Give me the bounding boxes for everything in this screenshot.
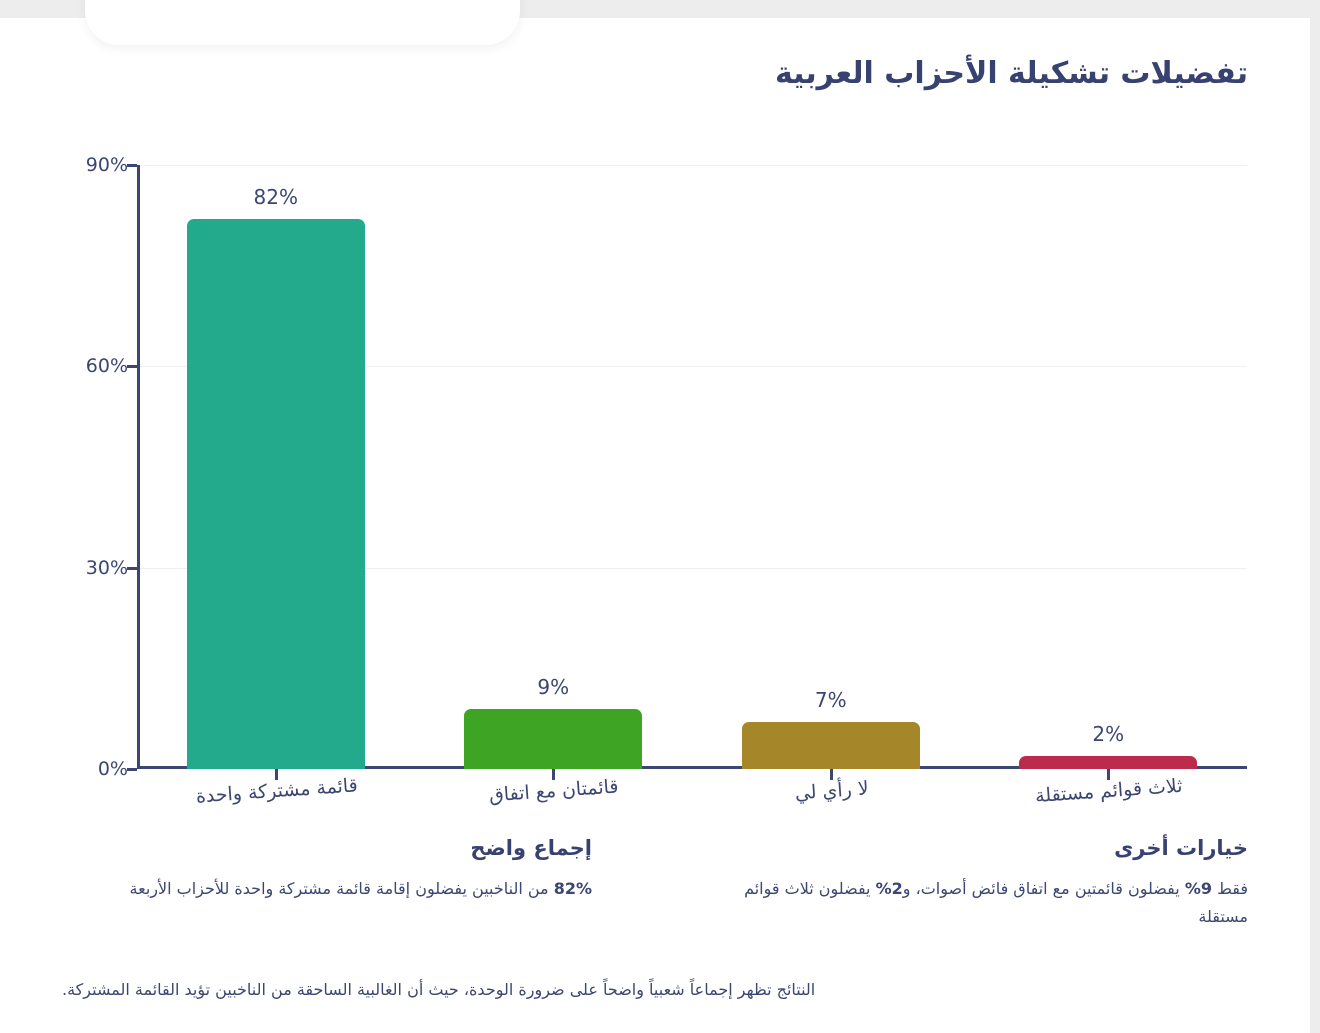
- top-floating-panel: [85, 0, 520, 45]
- y-axis-tick-label: 90%: [38, 154, 128, 176]
- summary-note: النتائج تظهر إجماعاً شعبياً واضحاً على ض…: [62, 976, 1248, 1003]
- bar-group[interactable]: 7%: [742, 165, 920, 769]
- insight-stat-82: 82%: [554, 879, 592, 898]
- chart-card: تفضيلات تشكيلة الأحزاب العربية 0%30%60%9…: [0, 18, 1310, 1033]
- insight-heading: إجماع واضح: [62, 836, 592, 860]
- chart-bar[interactable]: [742, 722, 920, 769]
- x-axis-tick-mark: [275, 769, 278, 780]
- y-axis-tick-mark: [127, 768, 137, 771]
- bar-value-label: 2%: [1019, 722, 1197, 746]
- chart-bar[interactable]: [1019, 756, 1197, 769]
- bar-group[interactable]: 2%: [1019, 165, 1197, 769]
- y-axis-tick-mark: [127, 164, 137, 167]
- insight-block-other-options: خيارات أخرىفقط 9% يفضلون قائمتين مع اتفا…: [718, 836, 1248, 931]
- x-axis-tick-mark: [830, 769, 833, 780]
- chart-bar[interactable]: [464, 709, 642, 769]
- insight-body: فقط 9% يفضلون قائمتين مع اتفاق فائض أصوا…: [718, 875, 1248, 931]
- y-axis-tick-mark: [127, 365, 137, 368]
- bar-group[interactable]: 9%: [464, 165, 642, 769]
- insight-body: 82% من الناخبين يفضلون إقامة قائمة مشترك…: [62, 875, 592, 903]
- bar-value-label: 9%: [464, 675, 642, 699]
- x-axis-tick-mark: [1107, 769, 1110, 780]
- y-axis-line: [137, 165, 140, 769]
- y-axis-tick-label: 30%: [38, 557, 128, 579]
- y-axis-tick-label: 0%: [38, 758, 128, 780]
- page-title: تفضيلات تشكيلة الأحزاب العربية: [775, 56, 1248, 91]
- insight-block-consensus: إجماع واضح82% من الناخبين يفضلون إقامة ق…: [62, 836, 592, 931]
- insight-heading: خيارات أخرى: [718, 836, 1248, 860]
- chart-bar[interactable]: [187, 219, 365, 769]
- insight-stat-2: 2%: [876, 879, 903, 898]
- y-axis-tick-label: 60%: [38, 355, 128, 377]
- bar-value-label: 82%: [187, 185, 365, 209]
- y-axis-tick-mark: [127, 567, 137, 570]
- bar-value-label: 7%: [742, 688, 920, 712]
- x-axis-tick-mark: [552, 769, 555, 780]
- footer-insights: خيارات أخرىفقط 9% يفضلون قائمتين مع اتفا…: [62, 836, 1248, 931]
- bar-group[interactable]: 82%: [187, 165, 365, 769]
- insight-stat-9: 9%: [1185, 879, 1212, 898]
